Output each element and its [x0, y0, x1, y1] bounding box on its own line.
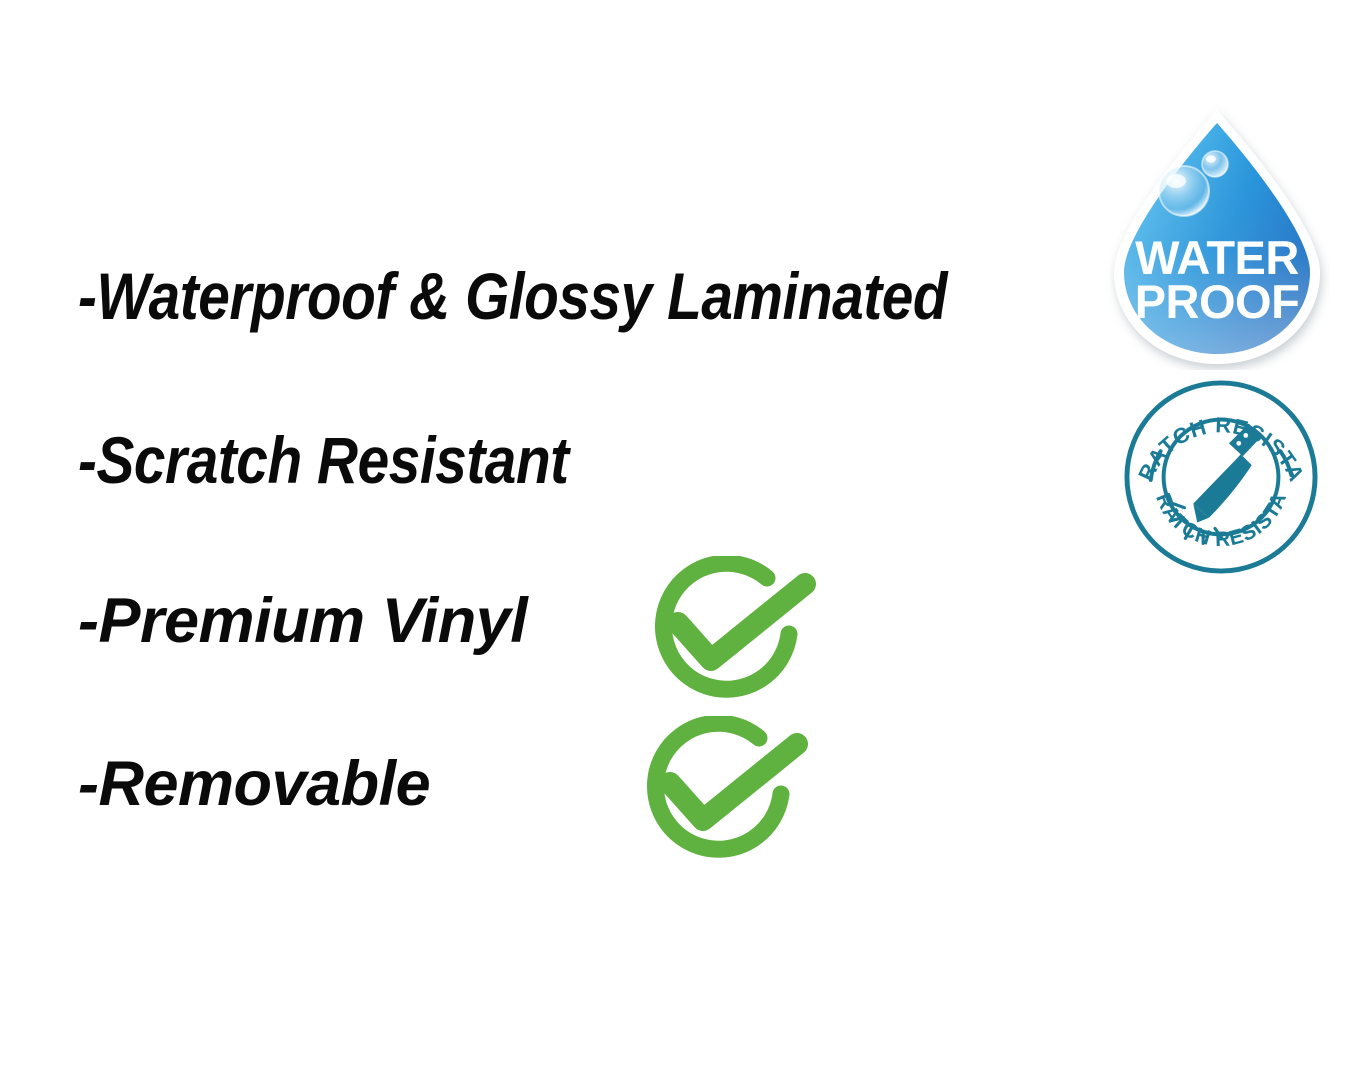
check-badge-premium-vinyl — [632, 556, 842, 716]
water-drop-icon: WATER PROOF — [1104, 104, 1330, 370]
bubble-small-icon — [1202, 151, 1228, 177]
scratch-resistant-stamp-icon: SCRATCH RESISTANT SCRATCH RESISTANT — [1122, 378, 1320, 576]
feature-item-waterproof: -Waterproof & Glossy Laminated — [78, 263, 947, 329]
feature-list: -Waterproof & Glossy Laminated -Scratch … — [0, 0, 1100, 1080]
check-circle-icon — [632, 556, 842, 716]
poster-canvas: -Waterproof & Glossy Laminated -Scratch … — [0, 0, 1359, 1080]
waterproof-label-line2: PROOF — [1135, 275, 1300, 328]
check-circle-icon — [624, 716, 834, 876]
waterproof-badge: WATER PROOF — [1104, 104, 1330, 370]
feature-item-premium-vinyl: -Premium Vinyl — [78, 590, 527, 653]
bubble-large-icon — [1159, 166, 1209, 216]
check-badge-removable — [624, 716, 834, 876]
feature-item-scratch-resistant: -Scratch Resistant — [78, 427, 569, 493]
scratch-resistant-badge: SCRATCH RESISTANT SCRATCH RESISTANT — [1122, 378, 1320, 576]
feature-item-removable: -Removable — [78, 753, 430, 816]
scratch-resistant-text-top: SCRATCH RESISTANT — [1122, 378, 1310, 486]
